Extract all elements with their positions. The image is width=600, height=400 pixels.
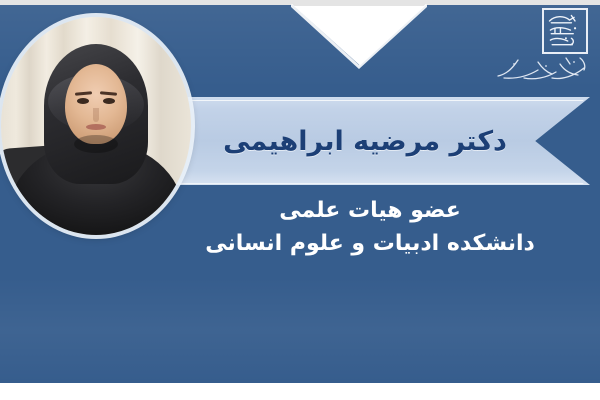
nose [93,108,99,122]
eyebrow-left [75,91,92,95]
person-name: دکتر مرضیه ابراهیمی [190,103,540,179]
neck-shadow [74,135,118,153]
eye-left [77,98,89,104]
person-affiliation: عضو هیات علمی دانشکده ادبیات و علوم انسا… [150,195,590,259]
affiliation-line-1: عضو هیات علمی [150,195,590,226]
affiliation-line-2: دانشکده ادبیات و علوم انسانی [150,228,590,259]
face [65,64,127,144]
university-seal-icon [542,8,588,54]
faculty-profile-card: دکتر مرضیه ابراهیمی عضو هیات علمی دانشکد… [0,0,600,400]
seal-calligraphy-glyphs [544,10,586,52]
university-logo [490,6,594,88]
eyebrow-right [100,91,117,95]
calligraphy-script-icon [494,52,590,84]
mouth [86,124,106,130]
eye-right [103,98,115,104]
